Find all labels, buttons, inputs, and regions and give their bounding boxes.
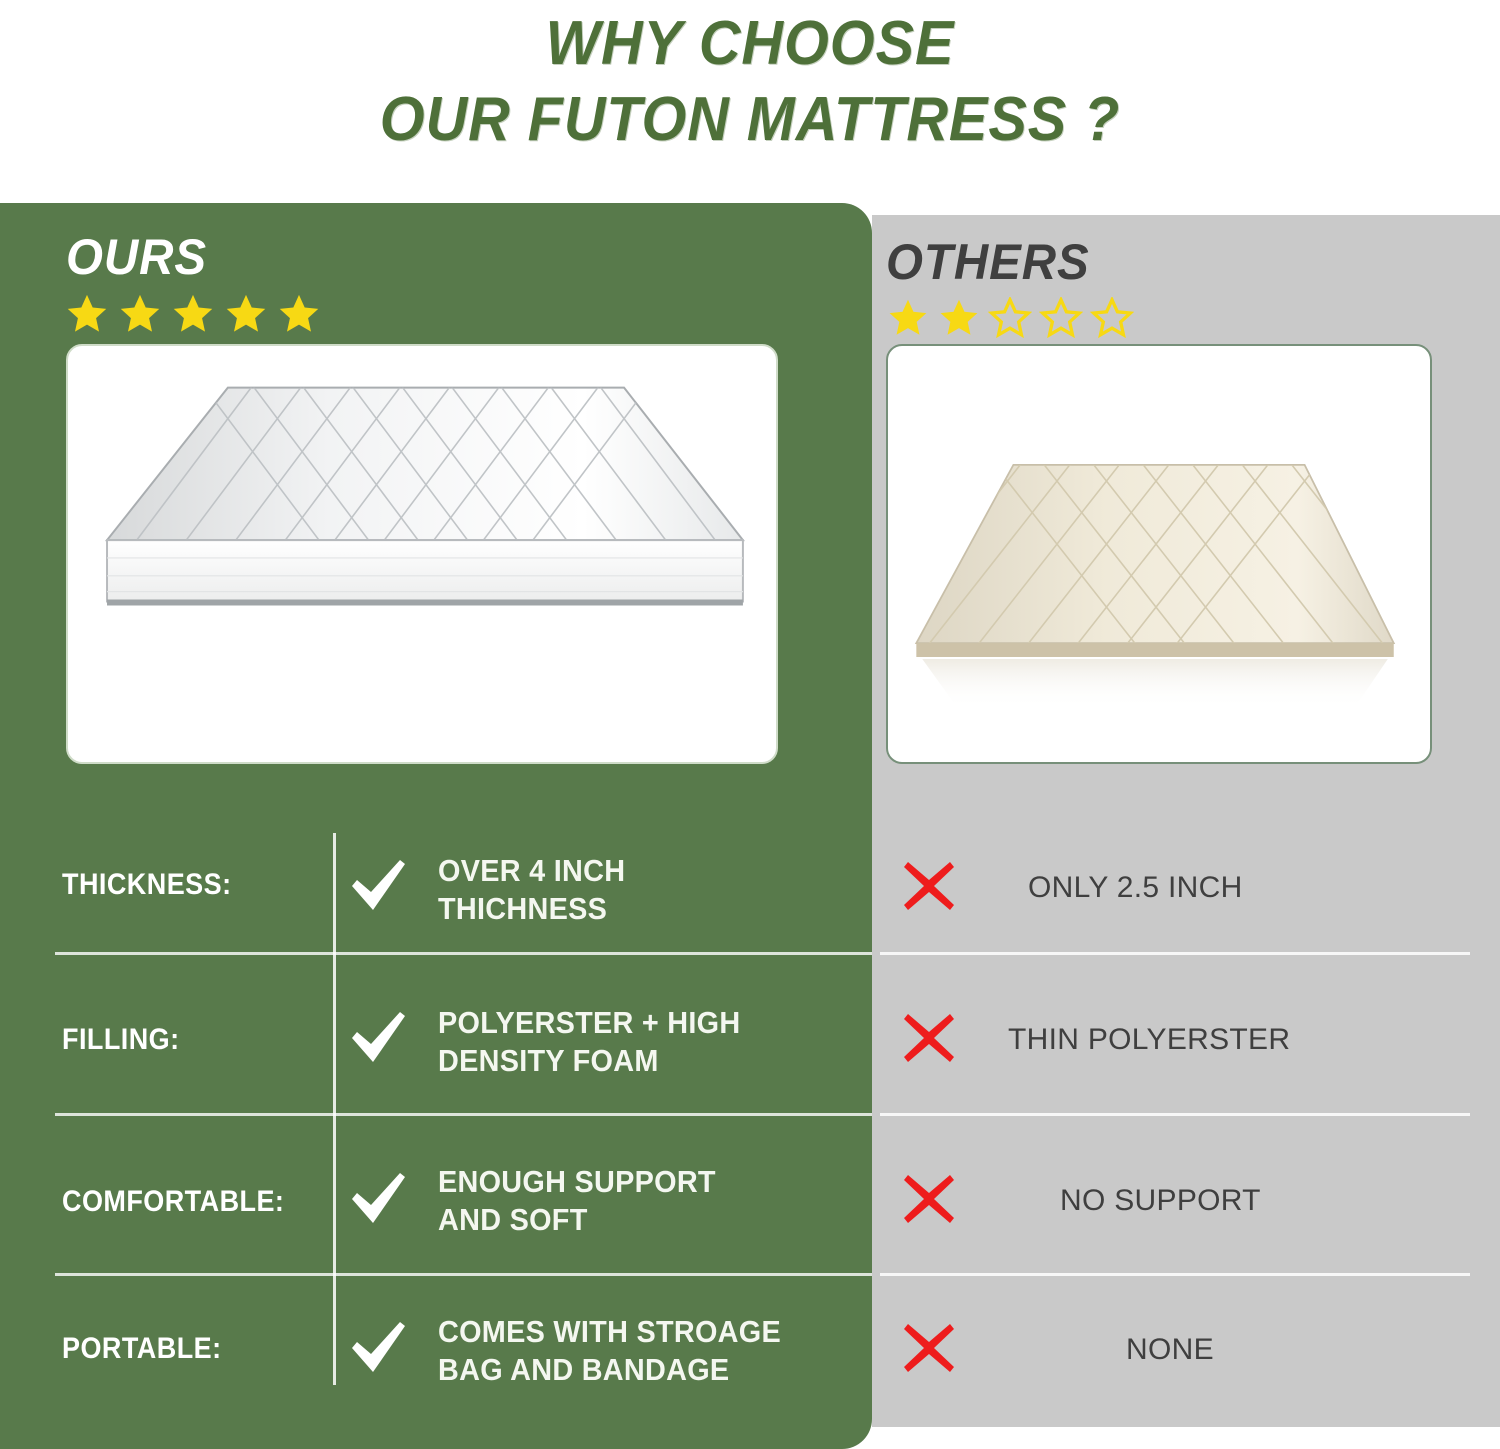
ours-value: ENOUGH SUPPORT AND SOFT (438, 1163, 716, 1239)
row-divider-left (55, 952, 872, 955)
others-product-image-card (886, 344, 1432, 764)
others-value: ONLY 2.5 INCH (1028, 869, 1243, 907)
check-icon (348, 1171, 408, 1227)
star-empty-icon (988, 297, 1032, 339)
others-value: NO SUPPORT (1060, 1182, 1261, 1220)
cross-icon (900, 1010, 958, 1066)
title-line-2: OUR FUTON MATTRESS ? (53, 82, 1448, 158)
row-divider-left (55, 1113, 872, 1116)
check-icon (348, 1010, 408, 1066)
others-heading: OTHERS (886, 233, 1090, 291)
ours-value: COMES WITH STROAGE BAG AND BANDAGE (438, 1313, 781, 1389)
star-empty-icon (1039, 297, 1083, 339)
feature-label: COMFORTABLE: (62, 1185, 284, 1219)
ours-value: POLYERSTER + HIGH DENSITY FOAM (438, 1004, 740, 1080)
check-icon (348, 1320, 408, 1376)
ours-mattress-image (68, 346, 776, 762)
others-value: NONE (1126, 1331, 1214, 1369)
star-filled-icon (276, 292, 322, 336)
row-divider-right (880, 1273, 1470, 1276)
ours-heading: OURS (66, 228, 207, 286)
star-filled-icon (937, 297, 981, 339)
cross-icon (900, 858, 958, 914)
others-value: THIN POLYERSTER (1008, 1021, 1290, 1059)
title-line-1: WHY CHOOSE (53, 6, 1448, 82)
page-title: WHY CHOOSE OUR FUTON MATTRESS ? (0, 6, 1500, 158)
star-filled-icon (117, 292, 163, 336)
star-filled-icon (64, 292, 110, 336)
cross-icon (900, 1320, 958, 1376)
table-column-divider (333, 833, 336, 1385)
ours-product-image-card (66, 344, 778, 764)
cross-icon (900, 1171, 958, 1227)
ours-star-rating (64, 292, 322, 336)
check-icon (348, 858, 408, 914)
row-divider-right (880, 952, 1470, 955)
others-mattress-image (888, 346, 1430, 762)
feature-label: PORTABLE: (62, 1332, 222, 1366)
ours-value: OVER 4 INCH THICHNESS (438, 852, 625, 928)
star-filled-icon (886, 297, 930, 339)
row-divider-left (55, 1273, 872, 1276)
feature-label: THICKNESS: (62, 868, 232, 902)
star-filled-icon (170, 292, 216, 336)
comparison-infographic: WHY CHOOSE OUR FUTON MATTRESS ? OURS OTH… (0, 0, 1500, 1449)
others-star-rating (886, 297, 1134, 339)
feature-label: FILLING: (62, 1023, 180, 1057)
row-divider-right (880, 1113, 1470, 1116)
star-filled-icon (223, 292, 269, 336)
star-empty-icon (1090, 297, 1134, 339)
